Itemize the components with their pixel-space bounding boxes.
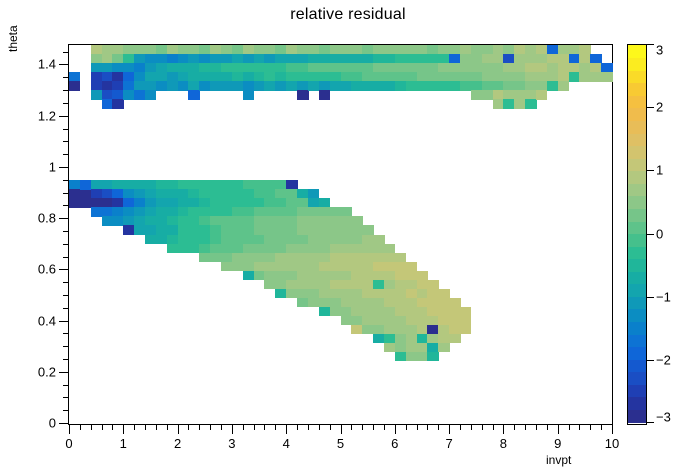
x-tick-label: 4 [283, 436, 290, 451]
x-tick-minor [102, 425, 103, 430]
heatmap-cell [417, 81, 428, 91]
x-tick-label: 9 [554, 436, 561, 451]
heatmap-cell [91, 90, 102, 100]
x-tick-major [449, 425, 450, 434]
x-tick-label: 3 [228, 436, 235, 451]
heatmap-cell [395, 81, 406, 91]
x-tick-minor [297, 425, 298, 430]
colorbar-tick-label: 1 [656, 163, 663, 178]
colorbar-tick-label: −1 [656, 289, 671, 304]
heatmap-cell [514, 99, 525, 109]
heatmap-cell [330, 307, 341, 317]
colorbar-swatch [628, 183, 646, 196]
colorbar-swatch [628, 372, 646, 385]
heatmap-cell [275, 289, 286, 299]
heatmap-cell [460, 81, 471, 91]
heatmap-cell [210, 81, 221, 91]
colorbar-swatch [628, 171, 646, 184]
heatmap-cell [384, 81, 395, 91]
colorbar-tick [647, 422, 654, 423]
heatmap-cell [243, 271, 254, 281]
x-tick-minor [210, 425, 211, 430]
x-tick-minor [406, 425, 407, 430]
x-tick-minor [243, 425, 244, 430]
heatmap-cell [254, 81, 265, 91]
y-tick-label: 1.4 [38, 57, 56, 72]
heatmap-cell [286, 289, 297, 299]
x-tick-minor [112, 425, 113, 430]
colorbar-tick [647, 360, 654, 361]
heatmap-cell [221, 262, 232, 272]
x-tick-minor [547, 425, 548, 430]
heatmap-cell [134, 225, 145, 235]
heatmap-cell [286, 81, 297, 91]
y-tick-label: 0.8 [38, 211, 56, 226]
heatmap-cell [264, 81, 275, 91]
colorbar-swatch [628, 284, 646, 297]
heatmap-cell [102, 216, 113, 226]
x-tick-minor [167, 425, 168, 430]
heatmap-cell [80, 198, 91, 208]
x-tick-minor [308, 425, 309, 430]
x-tick-minor [482, 425, 483, 430]
y-tick-label: 0.2 [38, 364, 56, 379]
colorbar-tick [647, 170, 654, 171]
x-tick-label: 6 [391, 436, 398, 451]
x-tick-major [341, 425, 342, 434]
heatmap-cell [112, 99, 123, 109]
x-tick-minor [188, 425, 189, 430]
x-tick-major [123, 425, 124, 434]
colorbar-swatch [628, 70, 646, 83]
heatmap-cell [69, 198, 80, 208]
colorbar-swatch [628, 359, 646, 372]
x-tick-minor [579, 425, 580, 430]
page-title: relative residual [0, 6, 696, 24]
heatmap-cell [91, 207, 102, 217]
heatmap-cell [145, 235, 156, 245]
y-tick-label: 1.2 [38, 108, 56, 123]
x-tick-minor [493, 425, 494, 430]
colorbar [627, 44, 647, 425]
colorbar-swatch [628, 334, 646, 347]
colorbar-swatch [628, 347, 646, 360]
x-tick-minor [438, 425, 439, 430]
y-tick-major [59, 116, 68, 117]
heatmap-cell [493, 99, 504, 109]
heatmap-cell [308, 298, 319, 308]
heatmap-cell [199, 81, 210, 91]
colorbar-tick-label: 2 [656, 100, 663, 115]
heatmap-cell [156, 81, 167, 91]
heatmap-cell [264, 280, 275, 290]
heatmap-cell [297, 298, 308, 308]
heatmap-cell [232, 81, 243, 91]
x-tick-minor [536, 425, 537, 430]
x-tick-minor [156, 425, 157, 430]
colorbar-tick-label: −3 [656, 410, 671, 425]
x-tick-label: 5 [337, 436, 344, 451]
y-axis-title: theta [6, 25, 20, 52]
heatmap-cell [69, 81, 80, 91]
x-tick-label: 8 [500, 436, 507, 451]
heatmap-cell [341, 81, 352, 91]
heatmap-cell [460, 325, 471, 335]
heatmap-cell [395, 352, 406, 362]
x-tick-minor [471, 425, 472, 430]
heatmap-cell [243, 90, 254, 100]
colorbar-swatch [628, 384, 646, 397]
x-tick-minor [264, 425, 265, 430]
y-tick-major [59, 372, 68, 373]
y-tick-label: 0.6 [38, 262, 56, 277]
heatmap-cell [417, 352, 428, 362]
y-axis: theta 00.20.40.60.811.21.4 [0, 0, 68, 430]
heatmap-cell [123, 225, 134, 235]
colorbar-swatch [628, 120, 646, 133]
x-tick-minor [525, 425, 526, 430]
x-tick-major [558, 425, 559, 434]
x-tick-minor [417, 425, 418, 430]
colorbar-swatch [628, 321, 646, 334]
heatmap-cell [167, 81, 178, 91]
x-tick-minor [319, 425, 320, 430]
x-tick-major [395, 425, 396, 434]
x-tick-major [69, 425, 70, 434]
heatmap-cell [558, 81, 569, 91]
heatmap-cell [341, 316, 352, 326]
x-tick-minor [384, 425, 385, 430]
y-tick-major [59, 64, 68, 65]
colorbar-tick [647, 107, 654, 108]
heatmap-cell [471, 90, 482, 100]
x-tick-minor [362, 425, 363, 430]
heatmap-cell [427, 352, 438, 362]
x-axis-title: invpt [546, 453, 571, 467]
x-tick-minor [601, 425, 602, 430]
heatmap-cell [438, 343, 449, 353]
y-tick-label: 0 [49, 416, 56, 431]
x-tick-minor [145, 425, 146, 430]
x-tick-minor [91, 425, 92, 430]
x-tick-minor [373, 425, 374, 430]
y-tick-major [59, 423, 68, 424]
x-tick-minor [275, 425, 276, 430]
heatmap-cell [297, 90, 308, 100]
colorbar-tick [647, 44, 654, 45]
colorbar-tick [647, 234, 654, 235]
x-tick-minor [514, 425, 515, 430]
x-tick-minor [351, 425, 352, 430]
x-tick-minor [427, 425, 428, 430]
heatmap-cell [134, 90, 145, 100]
y-tick-label: 1 [49, 159, 56, 174]
colorbar-swatch [628, 58, 646, 71]
heatmap-cell [254, 271, 265, 281]
heatmap-cell [221, 81, 232, 91]
heatmap-cell [275, 81, 286, 91]
x-tick-minor [569, 425, 570, 430]
colorbar-tick [647, 297, 654, 298]
x-tick-minor [199, 425, 200, 430]
heatmap-cell [167, 244, 178, 254]
x-tick-major [503, 425, 504, 434]
heatmap-cell [330, 81, 341, 91]
x-tick-major [612, 425, 613, 434]
colorbar-swatch [628, 397, 646, 410]
heatmap-cell [547, 81, 558, 91]
x-tick-major [286, 425, 287, 434]
colorbar-swatch [628, 234, 646, 247]
x-tick-label: 1 [120, 436, 127, 451]
x-tick-minor [330, 425, 331, 430]
colorbar-swatch [628, 108, 646, 121]
heatmap-cell [210, 253, 221, 263]
colorbar-swatch [628, 309, 646, 322]
y-tick-major [59, 167, 68, 168]
heatmap-cell [188, 90, 199, 100]
colorbar-axis: −3−2−10123 [647, 44, 695, 425]
heatmap-cell [503, 99, 514, 109]
heatmap-cell [351, 81, 362, 91]
heatmap-cell [384, 343, 395, 353]
heatmap-cell [590, 72, 601, 82]
heatmap-cells [69, 45, 612, 424]
colorbar-swatch [628, 83, 646, 96]
x-tick-label: 7 [445, 436, 452, 451]
colorbar-swatch [628, 208, 646, 221]
heatmap-cell [536, 90, 547, 100]
heatmap-cell [319, 90, 330, 100]
colorbar-swatch [628, 45, 646, 58]
heatmap-cell [525, 99, 536, 109]
heatmap-cell [156, 235, 167, 245]
heatmap-cell [188, 244, 199, 254]
y-tick-major [59, 269, 68, 270]
heatmap-cell [145, 90, 156, 100]
colorbar-tick-label: 3 [656, 43, 663, 58]
x-tick-label: 10 [605, 436, 619, 451]
colorbar-swatch [628, 259, 646, 272]
colorbar-swatch [628, 409, 646, 422]
heatmap-cell [569, 72, 580, 82]
heatmap-cell [112, 216, 123, 226]
x-tick-minor [590, 425, 591, 430]
colorbar-tick-label: −2 [656, 352, 671, 367]
x-tick-label: 2 [174, 436, 181, 451]
heatmap-cell [601, 72, 612, 82]
colorbar-swatch [628, 196, 646, 209]
x-tick-minor [460, 425, 461, 430]
x-tick-minor [134, 425, 135, 430]
heatmap-cell [438, 81, 449, 91]
heatmap-cell [102, 99, 113, 109]
y-tick-major [59, 218, 68, 219]
heatmap-cell [319, 307, 330, 317]
y-tick-label: 0.4 [38, 313, 56, 328]
heatmap-cell [232, 262, 243, 272]
colorbar-swatch [628, 296, 646, 309]
colorbar-tick-label: 0 [656, 226, 663, 241]
heatmap-cell [80, 180, 91, 190]
heatmap-cell [199, 253, 210, 263]
x-tick-major [232, 425, 233, 434]
x-tick-minor [254, 425, 255, 430]
heatmap-cell [373, 334, 384, 344]
colorbar-swatch [628, 95, 646, 108]
heatmap-cell [449, 81, 460, 91]
colorbar-swatch [628, 271, 646, 284]
x-tick-major [178, 425, 179, 434]
heatmap-cell [178, 244, 189, 254]
colorbar-swatch [628, 146, 646, 159]
heatmap-cell [406, 352, 417, 362]
colorbar-swatch [628, 133, 646, 146]
heatmap-cell [362, 325, 373, 335]
heatmap-cell [482, 90, 493, 100]
x-tick-label: 0 [65, 436, 72, 451]
heatmap-cell [579, 72, 590, 82]
heatmap-cell [351, 325, 362, 335]
heatmap-cell [308, 81, 319, 91]
heatmap-cell [406, 81, 417, 91]
heatmap-cell [123, 90, 134, 100]
heatmap-cell [449, 334, 460, 344]
colorbar-swatch [628, 221, 646, 234]
heatmap-cell [373, 81, 384, 91]
heatmap-cell [178, 81, 189, 91]
x-tick-minor [80, 425, 81, 430]
colorbar-swatch [628, 158, 646, 171]
colorbar-swatch [628, 246, 646, 259]
x-axis: invpt 012345678910 [68, 425, 614, 471]
heatmap-cell [427, 81, 438, 91]
x-tick-minor [221, 425, 222, 430]
heatmap-cell [362, 81, 373, 91]
plot-frame [68, 44, 613, 425]
